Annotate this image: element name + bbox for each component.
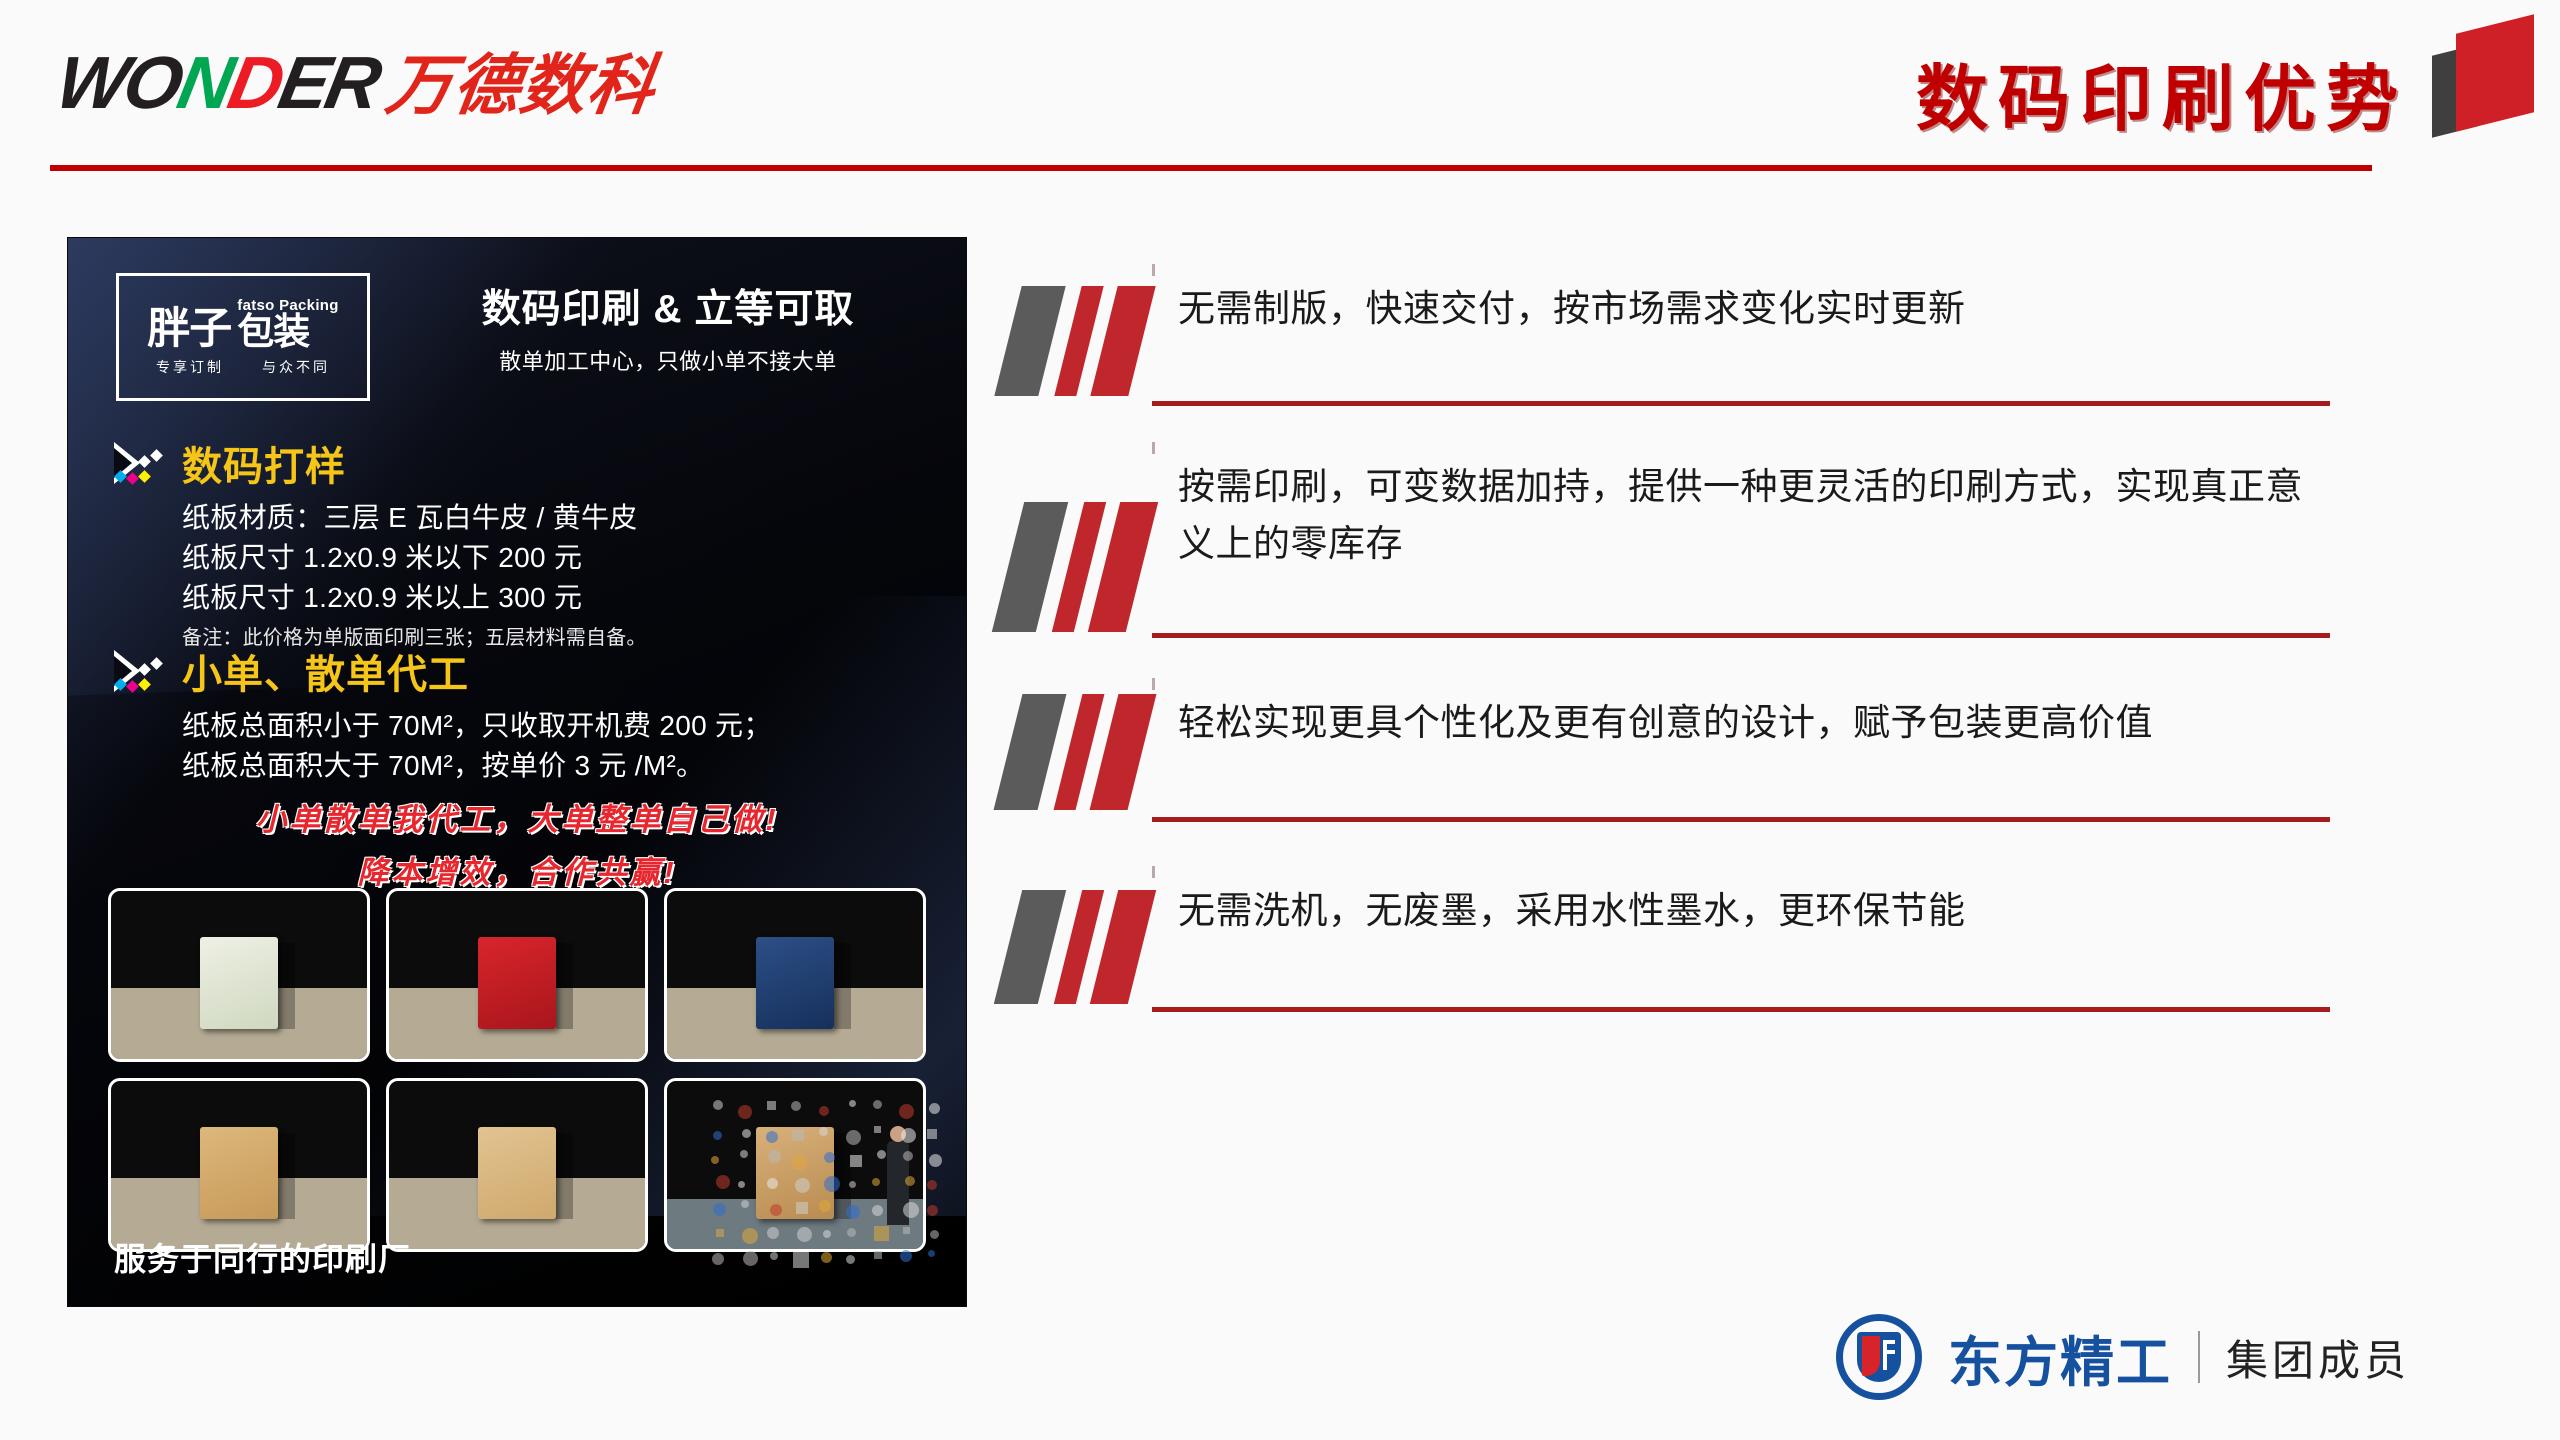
wonder-chinese-name: 万德数科 bbox=[383, 52, 660, 118]
poster-section-digital-proofing: 数码打样 纸板材质：三层 E 瓦白牛皮 / 黄牛皮 纸板尺寸 1.2x0.9 米… bbox=[112, 434, 932, 650]
advantage-text: 按需印刷，可变数据加持，提供一种更灵活的印刷方式，实现真正意义上的零库存 bbox=[1178, 458, 2330, 587]
poster-footer-text: 服务于同行的印刷厂 bbox=[114, 1234, 411, 1280]
advantage-underline bbox=[1152, 817, 2330, 822]
advantage-item-3: 轻松实现更具个性化及更有创意的设计，赋予包装更高价值 bbox=[1000, 694, 2330, 822]
advantage-text: 无需洗机，无废墨，采用水性墨水，更环保节能 bbox=[1178, 882, 2330, 953]
fatso-logo-cn-left: 胖子 bbox=[147, 309, 231, 350]
advantage-underline bbox=[1152, 633, 2330, 638]
advantage-item-1: 无需制版，快速交付，按市场需求变化实时更新 bbox=[1000, 280, 2330, 406]
advantage-underline bbox=[1152, 1007, 2330, 1012]
corner-decoration-icon bbox=[2408, 8, 2538, 133]
tick-mark bbox=[1152, 264, 1155, 276]
advantage-item-4: 无需洗机，无废墨，采用水性墨水，更环保节能 bbox=[1000, 882, 2330, 1012]
poster-subheadline: 散单加工中心，只做小单不接大单 bbox=[408, 344, 928, 376]
chevron-arrow-icon bbox=[112, 442, 166, 484]
product-photo bbox=[108, 1078, 370, 1252]
advantage-text: 无需制版，快速交付，按市场需求变化实时更新 bbox=[1178, 280, 2330, 351]
fatso-tag-left: 专享订制 bbox=[156, 357, 224, 377]
chevron-arrow-icon bbox=[112, 650, 166, 692]
advantage-text: 轻松实现更具个性化及更有创意的设计，赋予包装更高价值 bbox=[1178, 694, 2330, 765]
poster-slogan-line-1: 小单散单我代工，大单整单自己做! bbox=[68, 794, 966, 839]
section-line: 纸板总面积大于 70M²，按单价 3 元 /M²。 bbox=[182, 746, 932, 786]
fatso-tag-right: 与众不同 bbox=[262, 357, 330, 377]
section-line: 纸板尺寸 1.2x0.9 米以上 300 元 bbox=[182, 578, 932, 618]
poster-slogan: 小单散单我代工，大单整单自己做! 降本增效，合作共赢! bbox=[68, 794, 966, 892]
poster-headline-block: 数码印刷 & 立等可取 散单加工中心，只做小单不接大单 bbox=[408, 278, 928, 376]
dongfang-jinggong-logo: 东方精工 集团成员 bbox=[1836, 1314, 2410, 1400]
poster-headline: 数码印刷 & 立等可取 bbox=[408, 278, 928, 334]
section-title: 小单、散单代工 bbox=[182, 642, 469, 700]
footer-member-label: 集团成员 bbox=[2226, 1327, 2410, 1388]
product-photo bbox=[108, 888, 370, 1062]
product-photo bbox=[664, 888, 926, 1062]
section-line: 纸板尺寸 1.2x0.9 米以下 200 元 bbox=[182, 538, 932, 578]
slide-root: W O N D E R 万德数科 数码印刷优势 胖子 fatso Packing… bbox=[0, 0, 2560, 1440]
section-line: 纸板材质：三层 E 瓦白牛皮 / 黄牛皮 bbox=[182, 498, 932, 538]
poster-slogan-line-2: 降本增效，合作共赢! bbox=[68, 847, 966, 892]
halftone-dots-decoration bbox=[710, 1100, 960, 1280]
section-line: 纸板总面积小于 70M²，只收取开机费 200 元； bbox=[182, 706, 932, 746]
wonder-wordmark: W O N D E R bbox=[51, 46, 385, 120]
advantage-underline bbox=[1152, 401, 2330, 406]
chevron-marks-icon bbox=[1000, 882, 1150, 1012]
tick-mark bbox=[1152, 442, 1155, 454]
page-title: 数码印刷优势 bbox=[1916, 40, 2408, 145]
tick-mark bbox=[1152, 678, 1155, 690]
product-photo bbox=[386, 1078, 648, 1252]
tick-mark bbox=[1152, 866, 1155, 878]
corner-red-shape bbox=[2456, 14, 2534, 131]
chevron-marks-icon bbox=[1000, 458, 1150, 638]
header-divider bbox=[50, 165, 2372, 171]
advantage-item-2: 按需印刷，可变数据加持，提供一种更灵活的印刷方式，实现真正意义上的零库存 bbox=[1000, 458, 2330, 638]
chevron-marks-icon bbox=[1000, 694, 1150, 822]
product-photo bbox=[386, 888, 648, 1062]
poster-section-small-orders: 小单、散单代工 纸板总面积小于 70M²，只收取开机费 200 元； 纸板总面积… bbox=[112, 642, 932, 786]
fatso-logo-cn-right: 包装 bbox=[237, 314, 309, 349]
footer-company-name: 东方精工 bbox=[1948, 1318, 2172, 1397]
fatso-packing-logo: 胖子 fatso Packing 包装 专享订制 与众不同 bbox=[116, 273, 370, 401]
advantages-list: 无需制版，快速交付，按市场需求变化实时更新 按需印刷，可变数据加持，提供一种更灵… bbox=[1000, 280, 2330, 1064]
wonder-logo: W O N D E R 万德数科 bbox=[58, 46, 655, 120]
promo-poster-image: 胖子 fatso Packing 包装 专享订制 与众不同 数码印刷 & 立等可… bbox=[68, 238, 966, 1306]
section-title: 数码打样 bbox=[182, 434, 346, 492]
footer-divider bbox=[2198, 1331, 2200, 1383]
shield-emblem-icon bbox=[1836, 1314, 1922, 1400]
chevron-marks-icon bbox=[1000, 280, 1150, 406]
